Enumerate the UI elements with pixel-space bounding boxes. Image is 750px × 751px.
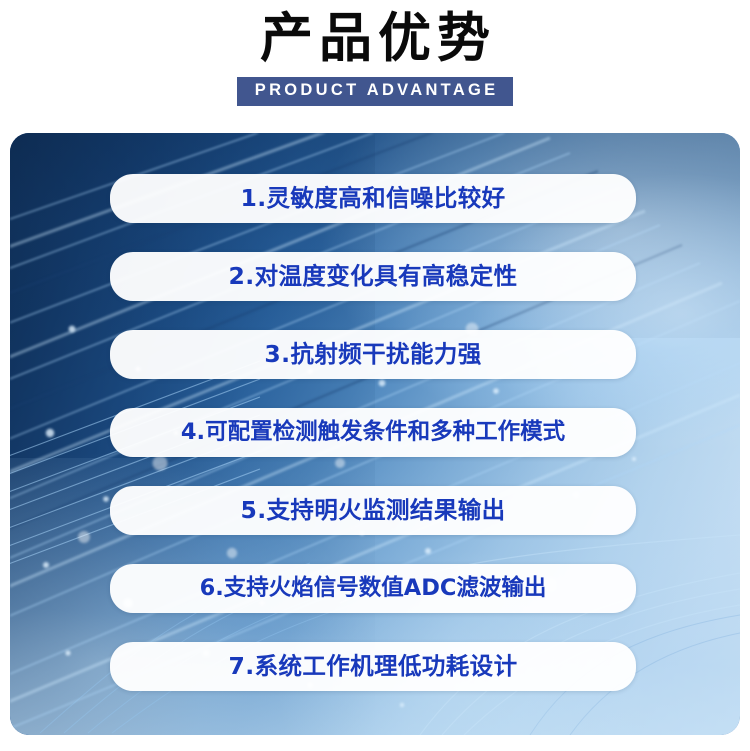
advantage-item-2[interactable]: 2.对温度变化具有高稳定性 [110,252,636,301]
advantage-item-6[interactable]: 6.支持火焰信号数值ADC滤波输出 [110,564,636,613]
advantage-item-label: 3.抗射频干扰能力强 [264,343,481,367]
advantage-item-label: 7.系统工作机理低功耗设计 [229,655,518,679]
advantage-item-label: 1.灵敏度高和信噪比较好 [240,187,505,211]
advantage-list: 1.灵敏度高和信噪比较好 2.对温度变化具有高稳定性 3.抗射频干扰能力强 4.… [110,174,636,691]
advantage-item-label: 2.对温度变化具有高稳定性 [229,265,518,289]
header: 产品优势 PRODUCT ADVANTAGE [0,0,750,133]
advantage-item-3[interactable]: 3.抗射频干扰能力强 [110,330,636,379]
advantage-item-label: 5.支持明火监测结果输出 [240,499,505,523]
advantage-item-label: 4.可配置检测触发条件和多种工作模式 [181,421,565,444]
advantage-item-4[interactable]: 4.可配置检测触发条件和多种工作模式 [110,408,636,457]
advantage-item-label: 6.支持火焰信号数值ADC滤波输出 [200,577,547,600]
subtitle-banner: PRODUCT ADVANTAGE [237,77,512,105]
panel-frame: 1.灵敏度高和信噪比较好 2.对温度变化具有高稳定性 3.抗射频干扰能力强 4.… [10,133,740,735]
advantages-panel: 1.灵敏度高和信噪比较好 2.对温度变化具有高稳定性 3.抗射频干扰能力强 4.… [10,133,740,735]
advantage-item-1[interactable]: 1.灵敏度高和信噪比较好 [110,174,636,223]
advantage-item-5[interactable]: 5.支持明火监测结果输出 [110,486,636,535]
page-title: 产品优势 [254,9,496,68]
advantage-item-7[interactable]: 7.系统工作机理低功耗设计 [110,642,636,691]
